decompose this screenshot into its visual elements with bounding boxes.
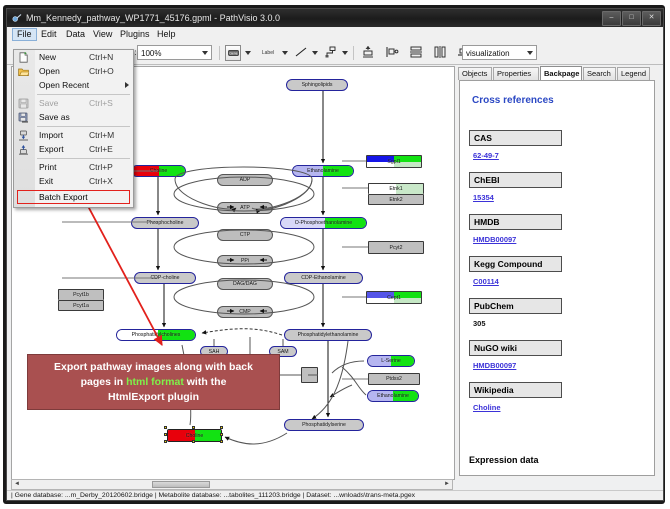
selection-handle[interactable]	[220, 440, 223, 443]
menu-item-save: Save Ctrl+S	[14, 96, 133, 110]
menu-bar: File Edit Data View Plugins Help	[7, 27, 663, 43]
scrollbar-thumb[interactable]	[152, 481, 210, 488]
selection-handle[interactable]	[164, 426, 167, 429]
selection-handle[interactable]	[164, 440, 167, 443]
menu-item-exit-label: Exit	[39, 174, 53, 188]
xref-value-pubchem: 305	[473, 319, 486, 328]
node-ctp[interactable]: CTP	[217, 229, 273, 241]
node-phosphatidylcholines[interactable]: Phosphatidylcholines	[116, 329, 196, 341]
line-icon[interactable]	[294, 45, 308, 61]
xref-label-wikipedia: Wikipedia	[469, 382, 562, 398]
line-dropdown-icon[interactable]	[312, 51, 318, 55]
expression-data-heading: Expression data	[469, 455, 539, 465]
svg-text:Gene: Gene	[229, 51, 237, 55]
export-icon	[18, 144, 29, 155]
node-l-serine[interactable]: L-Serine	[367, 355, 415, 367]
menu-item-open-recent-label: Open Recent	[39, 78, 89, 92]
node-sphingolipids[interactable]: Sphingolipids	[286, 79, 348, 91]
menu-item-exit-accel: Ctrl+X	[89, 174, 113, 188]
xref-value-kegg-compound[interactable]: C00114	[473, 277, 499, 286]
menu-item-import-accel: Ctrl+M	[89, 128, 114, 142]
visualization-value: visualization	[466, 49, 510, 58]
scroll-left-arrow-icon[interactable]: ◄	[13, 481, 21, 488]
cross-references-heading: Cross references	[472, 95, 554, 106]
menu-help[interactable]: Help	[153, 28, 180, 41]
menu-item-new-label: New	[39, 50, 56, 64]
node-phosphocholine[interactable]: Phosphocholine	[131, 217, 199, 229]
callout-line-3: HtmlExport plugin	[108, 390, 199, 405]
callout-annotation: Export pathway images along with back pa…	[27, 354, 280, 410]
xref-label-hmdb: HMDB	[469, 214, 562, 230]
menu-item-open-accel: Ctrl+O	[89, 64, 114, 78]
minimize-button[interactable]: –	[602, 11, 621, 26]
toolbar-separator-2	[353, 46, 354, 60]
tab-legend[interactable]: Legend	[617, 67, 650, 80]
menu-item-open-recent[interactable]: Open Recent	[14, 78, 133, 92]
align-left-icon[interactable]	[385, 45, 399, 61]
node-cdp-choline[interactable]: CDP-choline	[134, 272, 196, 284]
menu-item-open[interactable]: Open Ctrl+O	[14, 64, 133, 78]
folder-open-icon	[18, 66, 29, 77]
menu-item-save-accel: Ctrl+S	[89, 96, 113, 110]
xref-label-cas: CAS	[469, 130, 562, 146]
node-dag[interactable]: DAG/DAG	[217, 278, 273, 290]
gene-etnk1[interactable]: Etnk1	[368, 183, 424, 194]
xref-label-pubchem: PubChem	[469, 298, 562, 314]
menu-item-save-as[interactable]: Save as	[14, 110, 133, 124]
new-document-icon	[18, 52, 29, 63]
callout-line-2-pre: pages in	[81, 376, 127, 388]
scroll-right-arrow-icon[interactable]: ►	[443, 481, 451, 488]
datanode-icon[interactable]: Gene	[225, 45, 241, 61]
node-phosphatidylethanolamine[interactable]: Phosphatidylethanolamine	[284, 329, 372, 341]
desktop-background: Mm_Kennedy_pathway_WP1771_45176.gpml - P…	[0, 0, 670, 509]
menu-view[interactable]: View	[89, 28, 116, 41]
label-dropdown-icon[interactable]	[282, 51, 288, 55]
node-ethanolamine-right[interactable]: Ethanolamine	[367, 390, 419, 402]
panel-tab-strip: Objects Properties Backpage Search Legen…	[456, 66, 659, 80]
menu-item-export-label: Export	[39, 142, 64, 156]
file-dropdown-menu[interactable]: New Ctrl+N Open Ctrl+O Open Recent	[13, 49, 134, 208]
chevron-down-icon	[202, 51, 208, 55]
chevron-down-icon	[527, 51, 533, 55]
interaction-dropdown-icon[interactable]	[342, 51, 348, 55]
side-panel: Objects Properties Backpage Search Legen…	[456, 66, 659, 478]
tab-objects[interactable]: Objects	[458, 67, 492, 80]
node-adp[interactable]: ADP	[217, 174, 273, 186]
zoom-value: 100%	[141, 49, 161, 58]
node-cdp-ethanolamine[interactable]: CDP-Ethanolamine	[284, 272, 363, 284]
maximize-button[interactable]: □	[622, 11, 641, 26]
menu-plugins[interactable]: Plugins	[116, 28, 154, 41]
zoom-combobox[interactable]: 100%	[137, 45, 212, 60]
menu-item-export-accel: Ctrl+E	[89, 142, 113, 156]
label-icon[interactable]: Label	[257, 45, 279, 61]
callout-line-2-post: with the	[184, 376, 227, 388]
menu-item-import[interactable]: Import Ctrl+M	[14, 128, 133, 142]
menu-item-print[interactable]: Print Ctrl+P	[14, 160, 133, 174]
node-cmp[interactable]: CMP	[217, 306, 273, 318]
menu-item-save-as-label: Save as	[39, 110, 70, 124]
menu-item-print-accel: Ctrl+P	[89, 160, 113, 174]
menu-data[interactable]: Data	[62, 28, 89, 41]
align-top-icon[interactable]	[361, 45, 375, 61]
menu-item-print-label: Print	[39, 160, 56, 174]
xref-value-wikipedia[interactable]: Choline	[473, 403, 501, 412]
selection-handle[interactable]	[192, 426, 195, 429]
window-controls[interactable]: – □ ✕	[602, 11, 661, 26]
app-icon	[12, 13, 22, 23]
xref-value-hmdb[interactable]: HMDB00097	[473, 235, 516, 244]
window-title: Mm_Kennedy_pathway_WP1771_45176.gpml - P…	[26, 9, 280, 27]
visualization-combobox[interactable]: visualization	[462, 45, 537, 60]
title-bar: Mm_Kennedy_pathway_WP1771_45176.gpml - P…	[7, 9, 663, 27]
selection-handle[interactable]	[164, 433, 167, 436]
gene-pcyt1b[interactable]: Pcyt1b	[58, 289, 104, 300]
backpage-content: Cross references CAS 62-49-7 ChEBI 15354…	[459, 80, 655, 476]
save-as-icon	[18, 112, 29, 123]
callout-line-1: Export pathway images along with back	[54, 360, 253, 375]
callout-line-2-highlight: html format	[126, 376, 184, 388]
menu-item-new[interactable]: New Ctrl+N	[14, 50, 133, 64]
menu-item-open-label: Open	[39, 64, 60, 78]
tab-backpage[interactable]: Backpage	[540, 66, 582, 80]
xref-label-chebi: ChEBI	[469, 172, 562, 188]
node-phosphatidylserine[interactable]: Phosphatidylserine	[284, 419, 364, 431]
menu-item-batch-export-label: Batch Export	[39, 190, 88, 204]
gene-etnk2[interactable]: Etnk2	[368, 194, 424, 205]
selection-handle[interactable]	[220, 426, 223, 429]
node-choline-top[interactable]: Choline	[131, 165, 186, 177]
xref-value-cas[interactable]: 62-49-7	[473, 151, 499, 160]
tab-properties[interactable]: Properties	[493, 67, 539, 80]
menu-file[interactable]: File	[12, 28, 37, 41]
selection-handle[interactable]	[192, 440, 195, 443]
submenu-chevron-icon	[125, 82, 129, 88]
toolbar-separator	[219, 46, 220, 60]
node-atp[interactable]: ATP	[217, 202, 273, 214]
gene-pcyt2[interactable]: Pcyt2	[368, 241, 424, 254]
distribute-horizontal-icon[interactable]	[433, 45, 447, 61]
selection-handle[interactable]	[220, 433, 223, 436]
save-disk-icon	[18, 98, 29, 109]
menu-item-import-label: Import	[39, 128, 63, 142]
node-ethanolamine-top[interactable]: Ethanolamine	[292, 165, 354, 177]
menu-item-batch-export[interactable]: Batch Export	[14, 190, 133, 204]
datanode-dropdown-icon[interactable]	[245, 51, 251, 55]
canvas-horizontal-scrollbar[interactable]: ◄ ►	[11, 479, 453, 490]
status-bar: | Gene database: ...m_Derby_20120602.bri…	[7, 490, 663, 500]
gene-unnamed-connector[interactable]	[301, 367, 318, 383]
interaction-icon[interactable]	[324, 45, 338, 61]
gene-pcyt1a[interactable]: Pcyt1a	[58, 300, 104, 311]
menu-item-save-label: Save	[39, 96, 58, 110]
menu-item-export[interactable]: Export Ctrl+E	[14, 142, 133, 156]
tab-search[interactable]: Search	[583, 67, 616, 80]
callout-line-2: pages in html format with the	[81, 375, 227, 390]
xref-label-nugo-wiki: NuGO wiki	[469, 340, 562, 356]
menu-item-new-accel: Ctrl+N	[89, 50, 113, 64]
node-ppi[interactable]: PPi	[217, 255, 273, 267]
distribute-vertical-icon[interactable]	[409, 45, 423, 61]
close-button[interactable]: ✕	[642, 11, 661, 26]
node-o-phosphoethanolamine[interactable]: O-Phosphoethanolamine	[280, 217, 367, 229]
gene-cept1[interactable]: Cept1	[366, 291, 422, 304]
gene-ptdss2[interactable]: Ptdss2	[368, 373, 420, 385]
pathvisio-window: Mm_Kennedy_pathway_WP1771_45176.gpml - P…	[6, 8, 664, 501]
menu-edit[interactable]: Edit	[37, 28, 61, 41]
xref-label-kegg-compound: Kegg Compound	[469, 256, 562, 272]
menu-item-exit[interactable]: Exit Ctrl+X	[14, 174, 133, 188]
xref-value-nugo-wiki[interactable]: HMDB00097	[473, 361, 516, 370]
import-icon	[18, 130, 29, 141]
gene-sgpl1[interactable]: Sgpl1	[366, 155, 422, 168]
xref-value-chebi[interactable]: 15354	[473, 193, 494, 202]
